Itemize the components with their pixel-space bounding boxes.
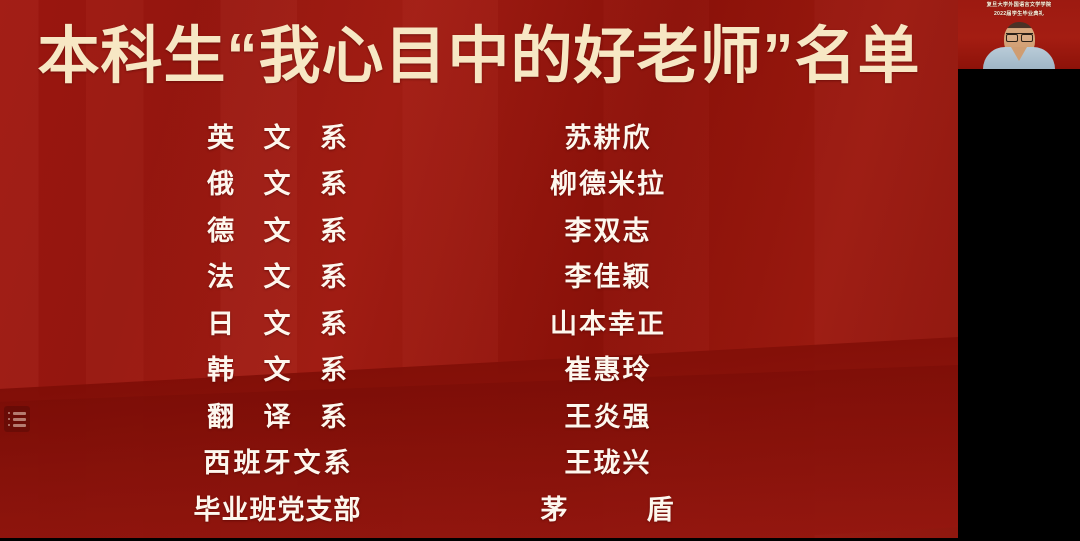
roster-department: 英 文 系	[112, 116, 442, 155]
roster-teacher-name: 苏耕欣	[442, 116, 772, 155]
list-icon-bar	[13, 424, 26, 427]
roster-teacher-name: 崔惠玲	[442, 348, 772, 387]
roster-teacher-name: 山本幸正	[442, 302, 772, 341]
table-row: 西班牙文系 王珑兴	[112, 438, 832, 485]
roster-teacher-name: 王炎强	[442, 395, 772, 434]
list-icon-line	[8, 424, 26, 427]
list-icon[interactable]	[4, 406, 30, 432]
glasses-icon	[1006, 33, 1033, 39]
list-icon-line	[8, 412, 26, 415]
list-icon-bar	[13, 412, 26, 415]
roster-department: 法 文 系	[112, 255, 442, 294]
list-icon-line	[8, 418, 26, 421]
roster-table: 英 文 系 苏耕欣 俄 文 系 柳德米拉 德 文 系 李双志 法 文 系 李佳颖…	[112, 112, 832, 531]
participant-video-panel[interactable]: 复旦大学外国语言文学学院 2022届学生毕业典礼	[958, 0, 1080, 538]
roster-teacher-name: 茅 盾	[442, 488, 772, 527]
screen-share-view: 本科生“我心目中的好老师”名单 英 文 系 苏耕欣 俄 文 系 柳德米拉 德 文…	[0, 0, 1080, 541]
roster-department: 西班牙文系	[112, 441, 442, 480]
ceremony-banner-line-1: 复旦大学外国语言文学学院	[958, 1, 1080, 10]
list-icon-bullet	[8, 412, 10, 414]
roster-teacher-name: 柳德米拉	[442, 162, 772, 201]
page-title: 本科生“我心目中的好老师”名单	[0, 24, 958, 89]
roster-teacher-name: 王珑兴	[442, 441, 772, 480]
table-row: 俄 文 系 柳德米拉	[112, 159, 832, 206]
roster-department: 翻 译 系	[112, 395, 442, 434]
list-icon-bar	[13, 418, 26, 421]
empty-video-area	[958, 69, 1080, 538]
roster-department: 日 文 系	[112, 302, 442, 341]
roster-department: 俄 文 系	[112, 162, 442, 201]
roster-department: 韩 文 系	[112, 348, 442, 387]
table-row: 毕业班党支部 茅 盾	[112, 484, 832, 531]
list-icon-bullet	[8, 424, 10, 426]
roster-teacher-name: 李双志	[442, 209, 772, 248]
table-row: 韩 文 系 崔惠玲	[112, 345, 832, 392]
ceremony-banner: 复旦大学外国语言文学学院 2022届学生毕业典礼	[958, 1, 1080, 18]
speaker-video-tile[interactable]: 复旦大学外国语言文学学院 2022届学生毕业典礼	[958, 0, 1080, 69]
roster-department: 德 文 系	[112, 209, 442, 248]
shared-slide: 本科生“我心目中的好老师”名单 英 文 系 苏耕欣 俄 文 系 柳德米拉 德 文…	[0, 0, 958, 538]
table-row: 翻 译 系 王炎强	[112, 391, 832, 438]
table-row: 日 文 系 山本幸正	[112, 298, 832, 345]
roster-department: 毕业班党支部	[112, 488, 442, 527]
table-row: 法 文 系 李佳颖	[112, 252, 832, 299]
table-row: 英 文 系 苏耕欣	[112, 112, 832, 159]
roster-teacher-name: 李佳颖	[442, 255, 772, 294]
table-row: 德 文 系 李双志	[112, 205, 832, 252]
ceremony-banner-line-2: 2022届学生毕业典礼	[958, 10, 1080, 19]
list-icon-bullet	[8, 418, 10, 420]
